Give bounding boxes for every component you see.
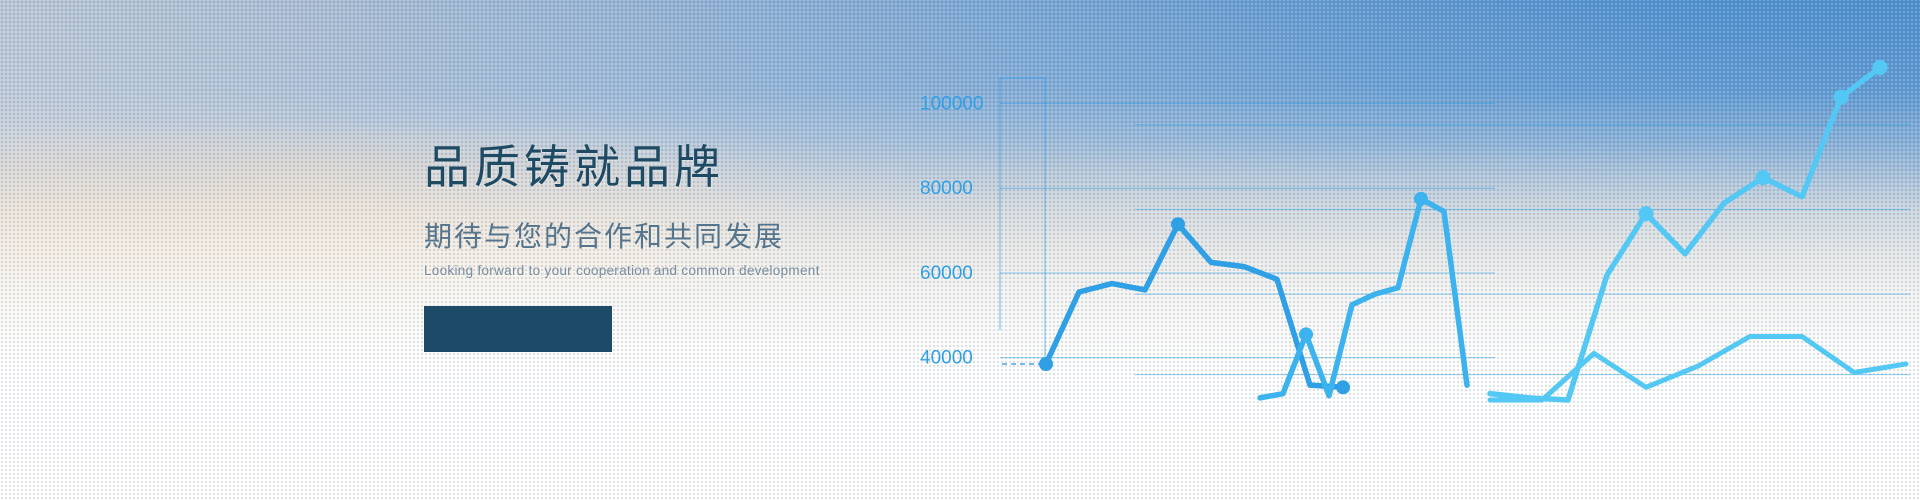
chart-data-point-marker (1414, 192, 1428, 206)
banner-cta-button[interactable] (424, 306, 612, 352)
line-chart-svg: 400006000080000100000 (920, 0, 1920, 500)
banner-subheadline-chinese: 期待与您的合作和共同发展 (424, 219, 1064, 254)
chart-data-point-marker (1171, 217, 1185, 231)
banner-copy-block: 品质铸就品牌 期待与您的合作和共同发展 Looking forward to y… (424, 140, 1064, 352)
chart-gridlines (1000, 104, 1910, 375)
chart-series-line (1260, 199, 1467, 398)
hero-banner: 品质铸就品牌 期待与您的合作和共同发展 Looking forward to y… (0, 0, 1920, 500)
chart-data-point-marker (1299, 327, 1313, 341)
chart-series-line (1490, 336, 1906, 400)
banner-headline: 品质铸就品牌 (424, 140, 1064, 195)
chart-data-point-marker (1039, 357, 1053, 371)
chart-series-line (1046, 224, 1343, 387)
chart-data-point-marker (1873, 60, 1888, 75)
chart-data-point-marker (1834, 90, 1849, 105)
y-axis-tick-label: 100000 (920, 94, 983, 115)
chart-data-point-marker (1756, 170, 1771, 185)
line-chart: 400006000080000100000 (920, 0, 1920, 500)
chart-data-point-marker (1336, 380, 1350, 394)
banner-subheadline-english: Looking forward to your cooperation and … (424, 262, 1064, 280)
chart-data-point-marker (1639, 206, 1654, 221)
chart-series-group (1039, 60, 1906, 400)
